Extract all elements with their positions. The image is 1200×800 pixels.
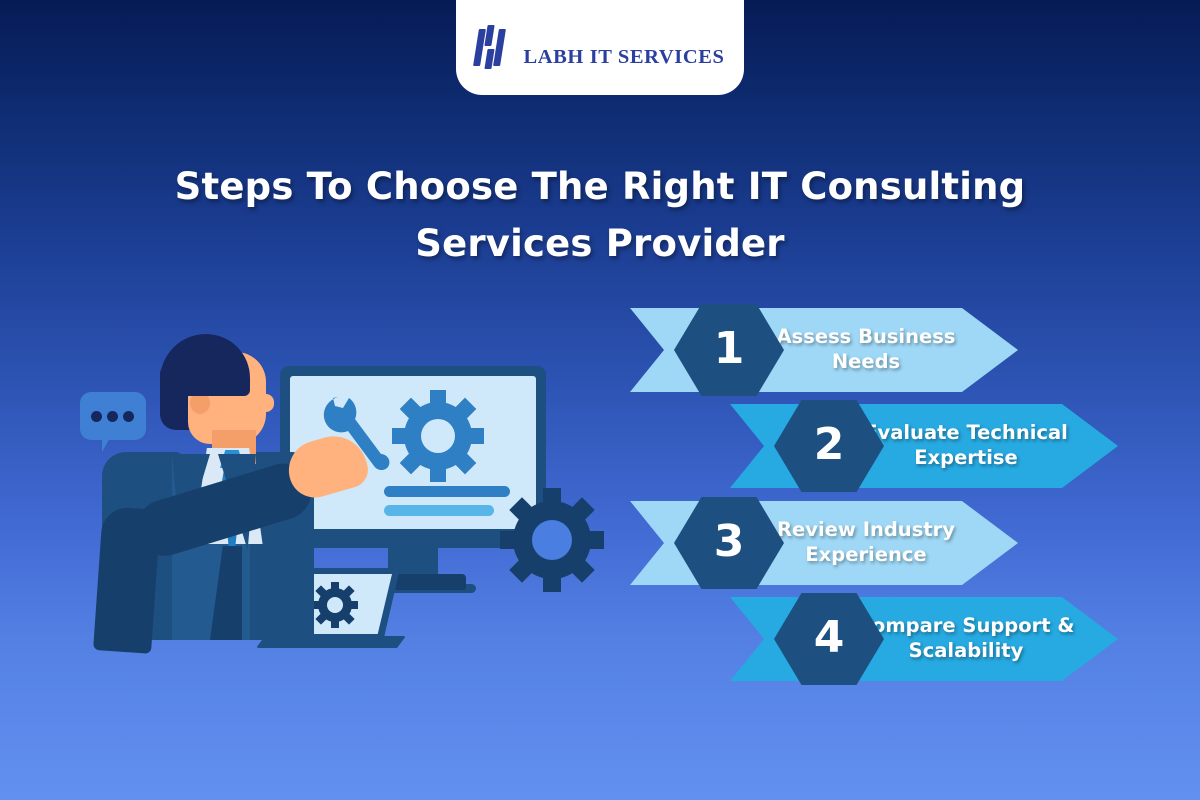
step-number: 3: [714, 520, 745, 564]
steps-list: Assess Business Needs 1 Evaluate Technic…: [0, 0, 1200, 800]
step-number: 1: [714, 327, 745, 371]
step-number: 4: [814, 616, 845, 660]
step-number: 2: [814, 423, 845, 467]
